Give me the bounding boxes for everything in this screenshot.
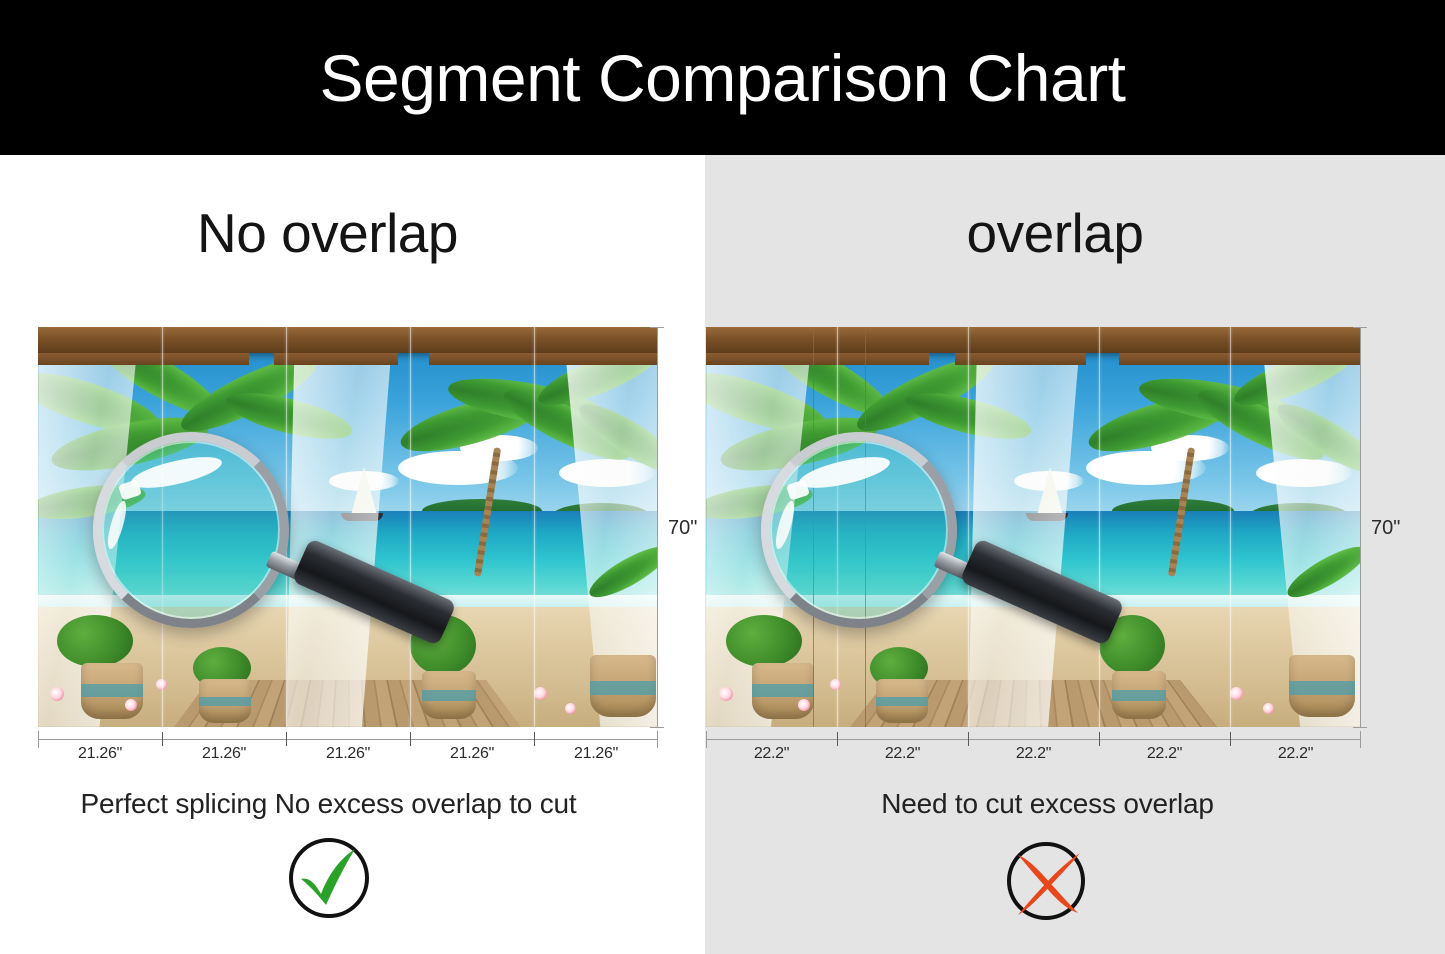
width-dimension-tick (534, 732, 535, 746)
pergola-beam (706, 327, 1361, 353)
segment-label: 21.26" (286, 745, 410, 763)
seam-line (968, 327, 969, 727)
height-label: 70" (668, 517, 697, 540)
foreground-bush (726, 615, 802, 667)
mural-figure-no-overlap: 70" 21.26" 21.26" 21.26" 21.26" 21.26" (38, 327, 658, 739)
panel-no-overlap: No overlap (0, 155, 705, 954)
pot-band (81, 684, 143, 696)
pergola-slat (1119, 353, 1361, 365)
width-dimension-tick (837, 732, 838, 746)
flower-blossom (798, 699, 810, 711)
flower-pot (422, 671, 476, 719)
segment-label: 22.2" (837, 745, 968, 763)
pergola-slat (274, 353, 398, 365)
width-dimension-tick (1099, 732, 1100, 746)
height-dimension-cap-top (650, 327, 664, 328)
seam-line (410, 327, 411, 727)
pot-band (752, 684, 814, 696)
pergola-slat (38, 353, 249, 365)
verdict-overlap (705, 833, 1445, 925)
height-dimension-cap-bottom (650, 727, 664, 728)
pot-band (590, 681, 656, 695)
flower-blossom (719, 687, 733, 701)
lens-glare (786, 479, 810, 500)
width-dimension-tick (286, 732, 287, 746)
flower-blossom (534, 687, 547, 700)
flower-blossom (1230, 687, 1243, 700)
panel-heading-no-overlap: No overlap (0, 203, 705, 263)
pot-band (422, 690, 476, 701)
segment-label: 22.2" (1099, 745, 1230, 763)
width-dimension-line (38, 739, 658, 740)
lens-glare (797, 450, 892, 493)
lens-glare (118, 479, 142, 500)
width-dimension-tick (410, 732, 411, 746)
magnifier-lens (761, 432, 957, 628)
panel-overlap: overlap (705, 155, 1445, 954)
flower-pot (1289, 655, 1355, 717)
width-dimension-tick (162, 732, 163, 746)
segment-label: 21.26" (162, 745, 286, 763)
page-title: Segment Comparison Chart (0, 42, 1445, 114)
height-dimension-cap-top (1353, 327, 1367, 328)
width-dimension-line (706, 739, 1361, 740)
height-dimension-line (1360, 327, 1361, 727)
caption-overlap: Need to cut excess overlap (705, 787, 1445, 821)
seam-line (1099, 327, 1100, 727)
flower-pot (876, 679, 928, 723)
width-dimension-tick (968, 732, 969, 746)
page-root: Segment Comparison Chart No overlap (0, 0, 1445, 954)
height-dimension-cap-bottom (1353, 727, 1367, 728)
panel-heading-overlap: overlap (705, 203, 1445, 263)
flower-pot (199, 679, 251, 723)
pot-band (199, 697, 251, 707)
pergola-slat (429, 353, 658, 365)
lens-glare (129, 450, 224, 493)
height-label: 70" (1371, 517, 1400, 540)
red-cross-circle-icon (1002, 833, 1094, 925)
seam-line (534, 327, 535, 727)
pergola-slat (955, 353, 1086, 365)
seam-line (1230, 327, 1231, 727)
verdict-no-overlap (0, 833, 705, 921)
height-dimension-line (657, 327, 658, 727)
mural-image-overlap (706, 327, 1361, 727)
pot-band (1112, 690, 1166, 701)
pergola-slat (706, 353, 929, 365)
pot-band (876, 697, 928, 707)
mural-image-no-overlap (38, 327, 658, 727)
flower-pot (590, 655, 656, 717)
mural-figure-overlap: 70" 22.2" 22.2" 22.2" 22.2" 22.2" (706, 327, 1366, 739)
segment-label: 21.26" (410, 745, 534, 763)
segment-label: 21.26" (38, 745, 162, 763)
flower-pot (81, 663, 143, 719)
comparison-panels: No overlap (0, 155, 1445, 954)
lens-glare (772, 499, 798, 550)
segment-label: 22.2" (706, 745, 837, 763)
flower-blossom (1263, 703, 1274, 714)
segment-label: 22.2" (1230, 745, 1361, 763)
pot-band (1289, 681, 1355, 695)
foreground-bush (57, 615, 133, 667)
width-dimension-tick (1230, 732, 1231, 746)
segment-label: 22.2" (968, 745, 1099, 763)
caption-no-overlap: Perfect splicing No excess overlap to cu… (0, 787, 705, 821)
flower-blossom (565, 703, 576, 714)
pergola-beam (38, 327, 658, 353)
header-bar: Segment Comparison Chart (0, 0, 1445, 155)
flower-pot (1112, 671, 1166, 719)
green-check-circle-icon (285, 833, 373, 921)
segment-label: 21.26" (534, 745, 658, 763)
flower-blossom (125, 699, 137, 711)
magnifier-lens (93, 432, 289, 628)
lens-glare (104, 499, 130, 550)
